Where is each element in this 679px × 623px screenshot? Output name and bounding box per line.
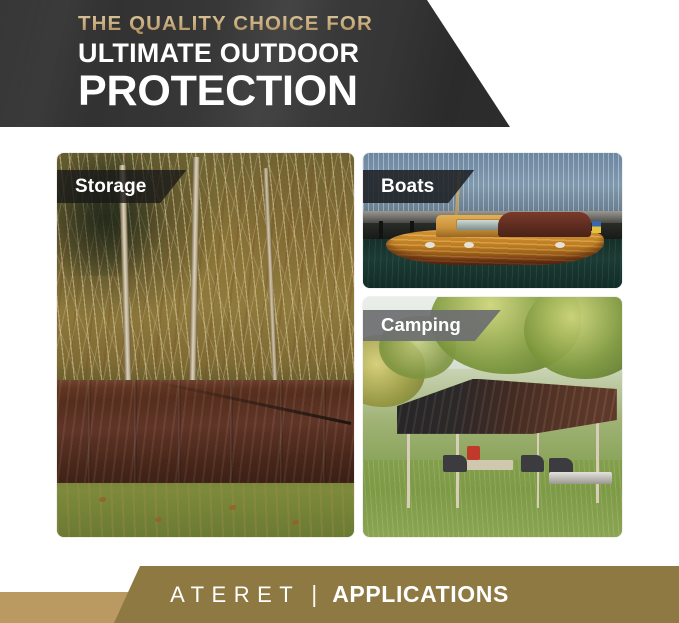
tarp-fold	[88, 380, 91, 484]
storage-photo	[57, 153, 354, 537]
marketing-banner: THE QUALITY CHOICE FOR ULTIMATE OUTDOOR …	[0, 0, 679, 623]
brand-separator: |	[311, 583, 317, 606]
camp-table	[461, 460, 513, 470]
camp-chair	[443, 455, 466, 472]
fallen-leaf	[155, 517, 162, 522]
boat-fender	[555, 242, 565, 248]
panel-storage[interactable]: Storage	[57, 153, 354, 537]
footer-text-block: ATERET | APPLICATIONS	[0, 566, 679, 623]
tarp-canopy	[397, 379, 617, 437]
panel-camping[interactable]: Camping	[363, 297, 622, 537]
footer-section-title: APPLICATIONS	[332, 583, 509, 606]
camp-cot	[549, 472, 611, 484]
brand-name: ATERET	[170, 584, 300, 606]
header-text-block: THE QUALITY CHOICE FOR ULTIMATE OUTDOOR …	[78, 14, 498, 113]
tarp-fold	[323, 380, 326, 484]
camp-chair	[521, 455, 544, 472]
red-cooler	[467, 446, 480, 460]
application-panel-grid: Storage Boats	[57, 153, 622, 537]
header-line-2: ULTIMATE OUTDOOR	[78, 40, 498, 67]
boat-flag	[592, 221, 601, 233]
boat-tarp-cover	[498, 212, 591, 236]
boat-windshield	[456, 219, 499, 230]
header-eyebrow: THE QUALITY CHOICE FOR	[78, 14, 498, 35]
tarp-fold	[230, 380, 233, 484]
brown-tarp-cover	[57, 380, 354, 484]
header-line-3: PROTECTION	[78, 70, 498, 114]
panel-boats[interactable]: Boats	[363, 153, 622, 288]
canopy-pole	[407, 422, 410, 508]
tarp-fold	[280, 380, 283, 484]
tarp-fold	[134, 380, 137, 484]
tarp-fold	[178, 380, 181, 484]
